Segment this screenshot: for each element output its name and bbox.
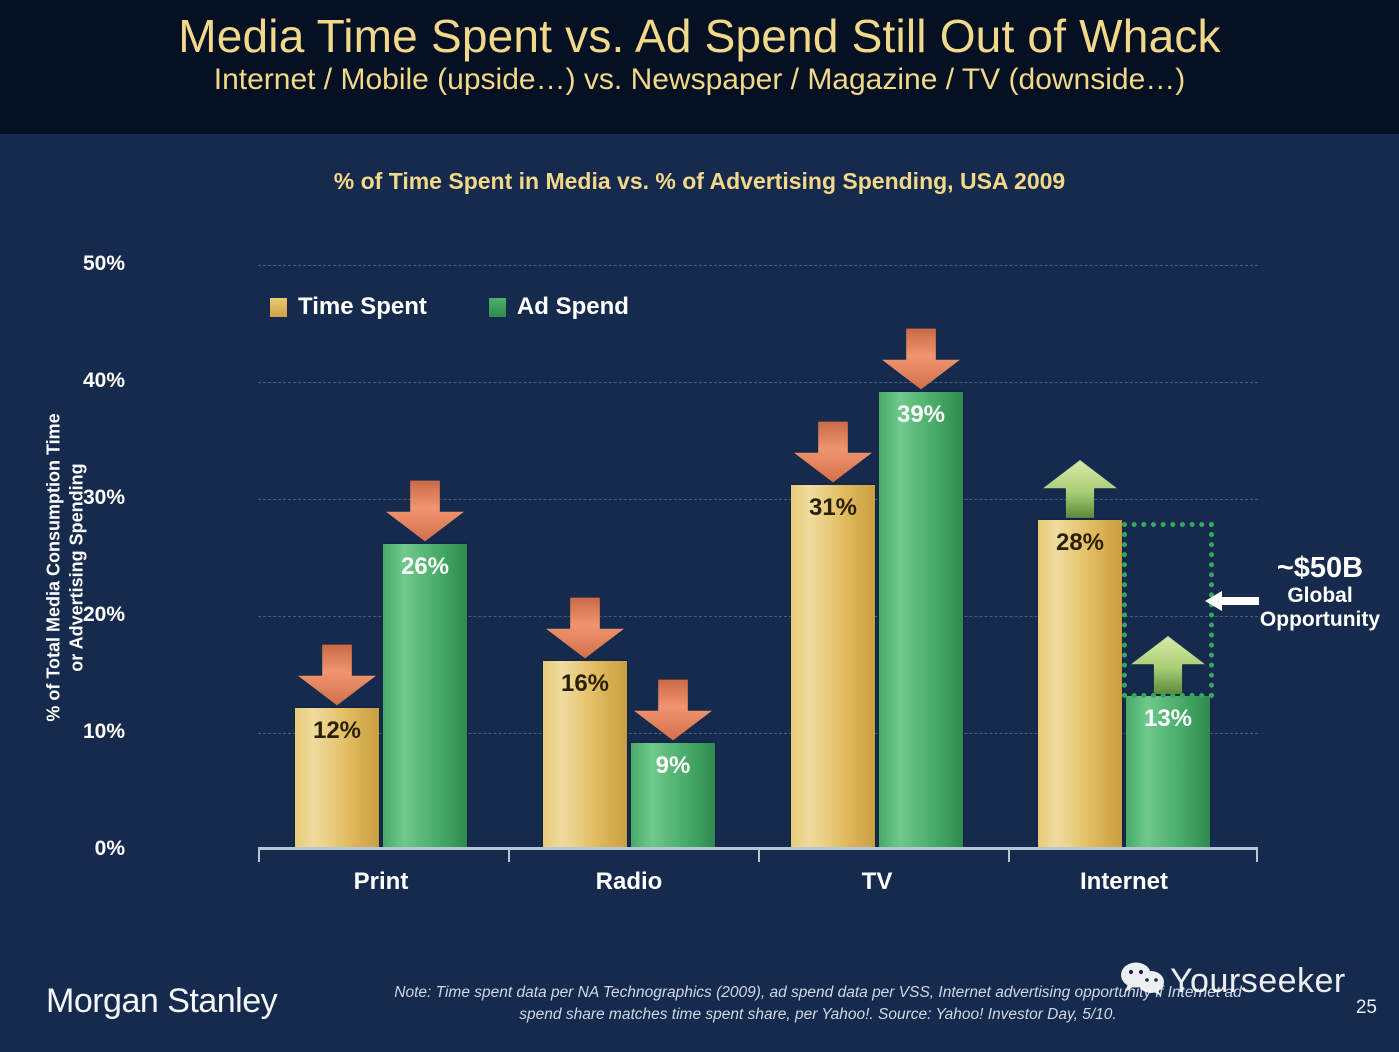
down-arrow-icon-print-ad-spend xyxy=(386,480,464,547)
down-arrow-icon-print-time-spent xyxy=(298,644,376,711)
down-arrow-icon-tv-ad-spend xyxy=(882,328,960,395)
bar-value-label: 39% xyxy=(879,401,963,429)
legend-item-ad-spend: Ad Spend xyxy=(489,293,629,321)
legend-label-time-spent: Time Spent xyxy=(298,293,427,321)
bar-print-time-spent: 12% xyxy=(295,708,379,848)
morgan-stanley-logo: Morgan Stanley xyxy=(46,982,277,1021)
down-arrow-icon-tv-time-spent xyxy=(794,421,872,488)
y-tick-label-10: 10% xyxy=(5,720,125,744)
slide-title: Media Time Spent vs. Ad Spend Still Out … xyxy=(0,0,1399,60)
x-axis-end-cap-1 xyxy=(1256,850,1258,862)
chart-title: % of Time Spent in Media vs. % of Advert… xyxy=(0,168,1399,195)
opportunity-line2: Opportunity xyxy=(1240,608,1399,632)
bar-internet-time-spent: 28% xyxy=(1038,520,1122,848)
page-number: 25 xyxy=(1356,997,1377,1019)
legend-item-time-spent: Time Spent xyxy=(270,293,427,321)
chart-plot-area: 12%26%16%9%31%39%28%13% xyxy=(258,265,1258,850)
down-arrow-icon-radio-time-spent xyxy=(546,597,624,664)
slide-header-band: Media Time Spent vs. Ad Spend Still Out … xyxy=(0,0,1399,134)
legend-swatch-ad-spend xyxy=(489,298,506,317)
watermark: Yourseeker xyxy=(1120,962,1346,1001)
y-tick-label-50: 50% xyxy=(5,252,125,276)
bar-value-label: 31% xyxy=(791,494,875,522)
bar-value-label: 16% xyxy=(543,670,627,698)
x-axis-label-tv: TV xyxy=(787,868,967,896)
wechat-icon xyxy=(1120,962,1166,1001)
bar-value-label: 28% xyxy=(1038,529,1122,557)
bar-tv-ad-spend: 39% xyxy=(879,392,963,848)
bar-value-label: 12% xyxy=(295,717,379,745)
opportunity-box xyxy=(1122,522,1214,698)
gridline-40 xyxy=(258,382,1258,383)
x-axis-tick-2 xyxy=(758,850,760,862)
y-tick-label-20: 20% xyxy=(5,603,125,627)
x-axis-label-radio: Radio xyxy=(539,868,719,896)
chart-legend: Time Spent Ad Spend xyxy=(270,293,629,321)
bar-print-ad-spend: 26% xyxy=(383,544,467,848)
bar-radio-ad-spend: 9% xyxy=(631,743,715,848)
up-arrow-icon-internet-time-spent xyxy=(1043,460,1117,523)
footer-note-line2: spend share matches time spent share, pe… xyxy=(318,1004,1318,1026)
opportunity-amount: ~$50B xyxy=(1240,552,1399,584)
y-tick-label-0: 0% xyxy=(5,837,125,861)
bar-radio-time-spent: 16% xyxy=(543,661,627,848)
x-axis-tick-3 xyxy=(1008,850,1010,862)
bar-internet-ad-spend: 13% xyxy=(1126,696,1210,848)
bar-value-label: 26% xyxy=(383,553,467,581)
y-tick-label-40: 40% xyxy=(5,369,125,393)
slide-canvas: Media Time Spent vs. Ad Spend Still Out … xyxy=(0,0,1399,1052)
opportunity-callout-text: ~$50B Global Opportunity xyxy=(1240,552,1399,632)
y-tick-label-30: 30% xyxy=(5,486,125,510)
slide-subtitle: Internet / Mobile (upside…) vs. Newspape… xyxy=(0,60,1399,96)
x-axis-end-cap-0 xyxy=(258,850,260,862)
x-axis-label-internet: Internet xyxy=(1034,868,1214,896)
bar-value-label: 9% xyxy=(631,752,715,780)
legend-swatch-time-spent xyxy=(270,298,287,317)
legend-label-ad-spend: Ad Spend xyxy=(517,293,629,321)
gridline-50 xyxy=(258,265,1258,266)
bar-tv-time-spent: 31% xyxy=(791,485,875,848)
opportunity-line1: Global xyxy=(1240,584,1399,608)
x-axis-tick-1 xyxy=(508,850,510,862)
bar-value-label: 13% xyxy=(1126,705,1210,733)
x-axis-label-print: Print xyxy=(291,868,471,896)
down-arrow-icon-radio-ad-spend xyxy=(634,679,712,746)
watermark-text: Yourseeker xyxy=(1170,962,1346,1001)
